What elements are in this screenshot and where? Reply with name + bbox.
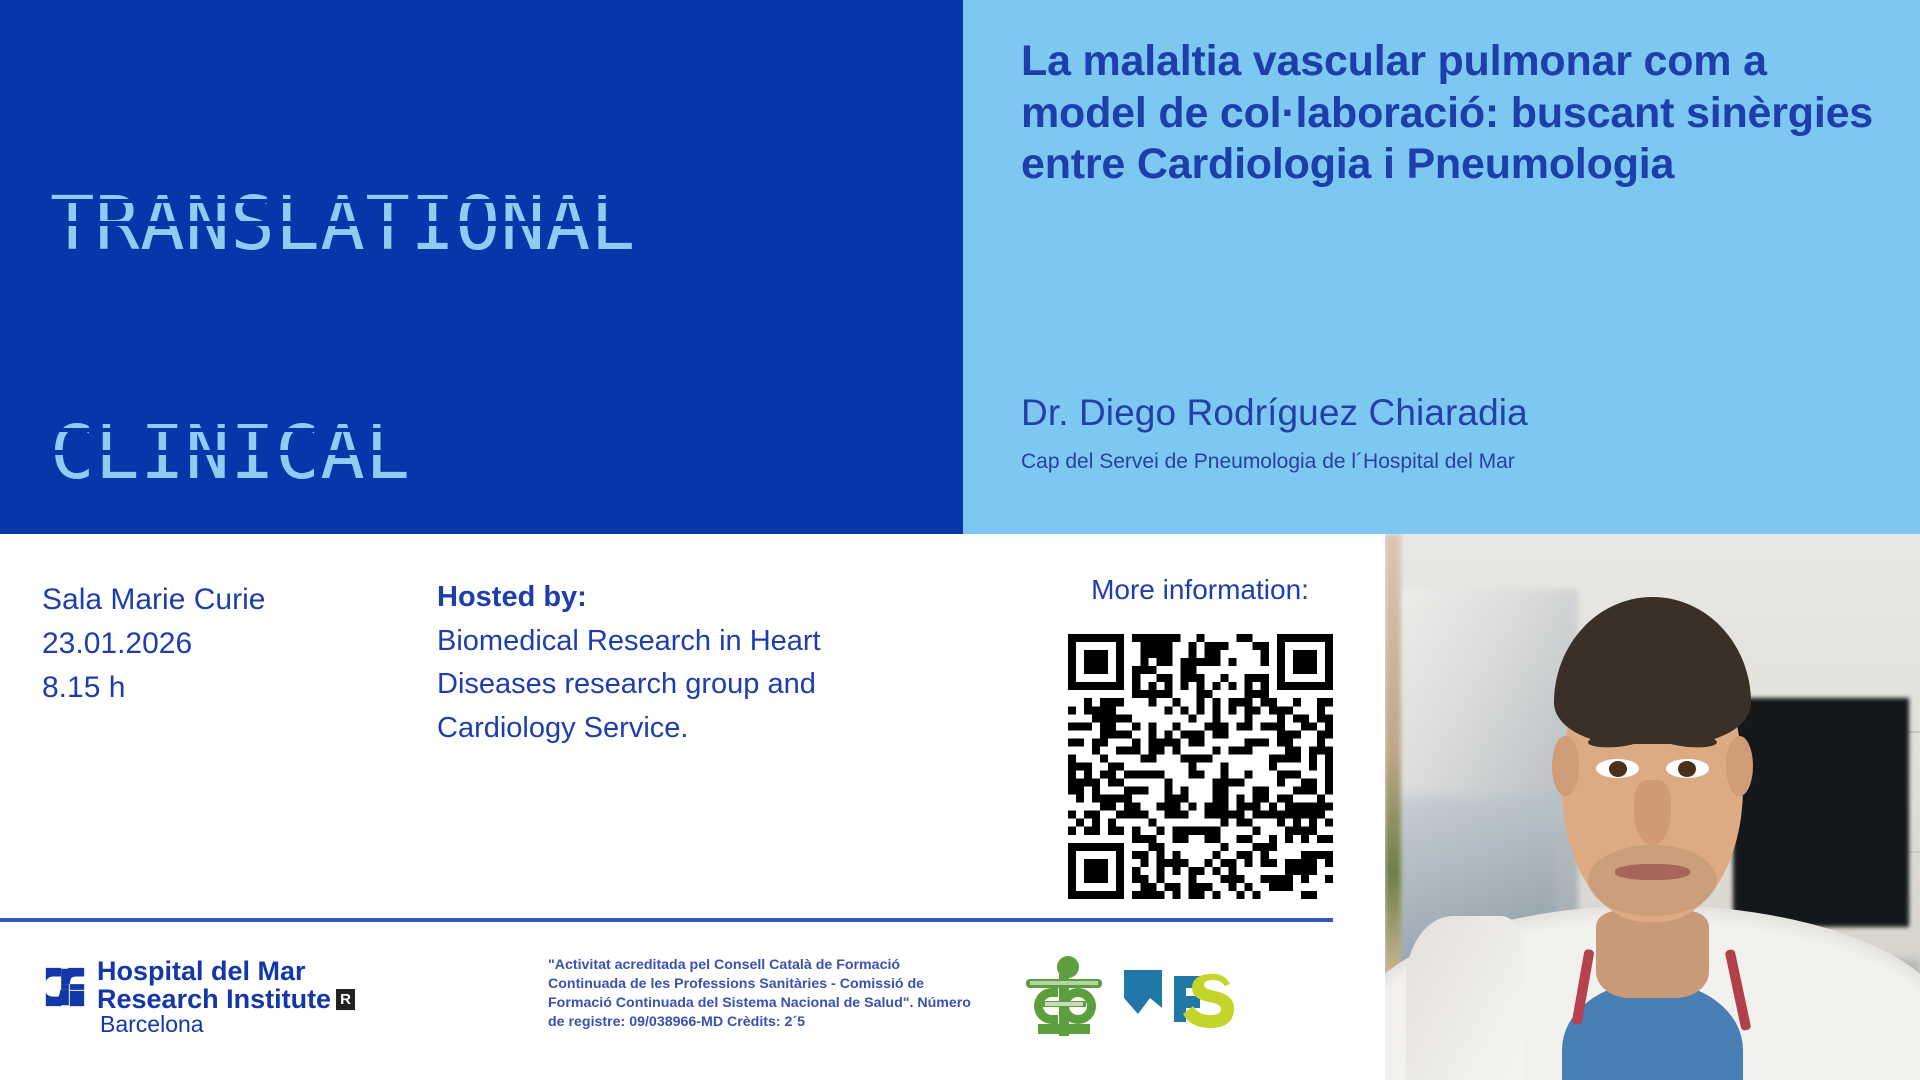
photo-nose: [1634, 780, 1671, 846]
institute-line-1: Hospital del Mar: [97, 958, 355, 986]
talk-info-panel: La malaltia vascular pulmonar com a mode…: [963, 0, 1920, 534]
photo-pupil: [1609, 761, 1627, 777]
hosted-by-body: Biomedical Research in Heart Diseases re…: [437, 625, 821, 744]
brand-panel: TRANSLATIONAL CLINICAL RESEARCH: [0, 0, 963, 534]
cfc-logo-icon: [1018, 954, 1110, 1042]
footer-divider: [0, 918, 1333, 922]
more-information-label: More information:: [1055, 574, 1345, 606]
event-date: 23.01.2026: [42, 622, 265, 666]
event-details: Sala Marie Curie 23.01.2026 8.15 h: [42, 578, 265, 709]
speaker-name: Dr. Diego Rodríguez Chiaradia: [1021, 392, 1528, 434]
wordmark-line-2: CLINICAL: [50, 415, 636, 491]
registered-trademark-icon: R: [336, 989, 355, 1010]
page-title: La malaltia vascular pulmonar com a mode…: [1021, 36, 1901, 191]
poster-footer: Hospital del Mar Research Institute R Ba…: [0, 952, 1400, 1072]
hospital-cross-icon: [42, 964, 88, 1010]
ps-logo-icon: [1118, 962, 1238, 1034]
qr-code-icon[interactable]: [1068, 634, 1333, 899]
event-room: Sala Marie Curie: [42, 578, 265, 622]
photo-neck: [1596, 911, 1708, 998]
hospital-del-mar-logo: Hospital del Mar Research Institute R Ba…: [42, 958, 355, 1037]
institute-line-2-row: Research Institute R: [97, 986, 355, 1014]
photo-lab-coat-fold: [1406, 916, 1524, 1080]
photo-chin-shadow: [1588, 845, 1716, 916]
institute-line-3: Barcelona: [100, 1013, 355, 1036]
photo-person: [1385, 534, 1920, 1080]
hosted-by-label: Hosted by:: [437, 576, 842, 620]
hosted-by-block: Hosted by: Biomedical Research in Heart …: [437, 576, 842, 750]
qr-code-wrapper[interactable]: [1055, 634, 1345, 899]
event-time: 8.15 h: [42, 666, 265, 710]
more-information-block: More information:: [1055, 574, 1345, 899]
speaker-photo: [1385, 534, 1920, 1080]
wordmark-line-1: TRANSLATIONAL: [50, 186, 636, 262]
poster-header: TRANSLATIONAL CLINICAL RESEARCH La malal…: [0, 0, 1920, 534]
hospital-del-mar-wordmark: Hospital del Mar Research Institute R Ba…: [97, 958, 355, 1037]
photo-ear: [1726, 736, 1753, 796]
photo-hair: [1554, 597, 1752, 744]
institute-line-2: Research Institute: [97, 986, 331, 1014]
accreditation-text: "Activitat acreditada pel Consell Català…: [548, 956, 978, 1032]
speaker-role: Cap del Servei de Pneumologia de l´Hospi…: [1021, 450, 1515, 474]
photo-mouth: [1615, 864, 1690, 879]
